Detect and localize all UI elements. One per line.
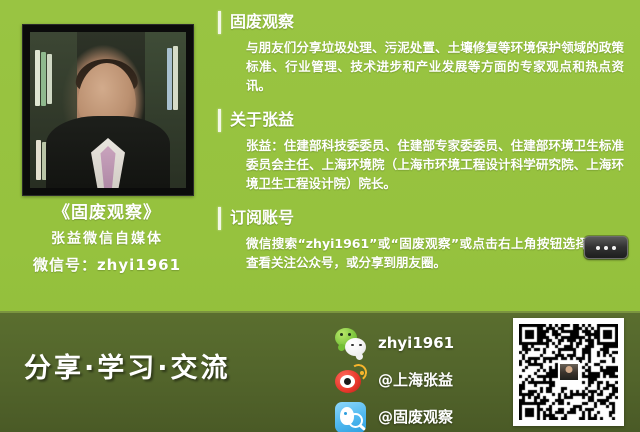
qq-icon <box>334 400 368 432</box>
vertical-bar-marker-icon <box>218 207 221 230</box>
section-title: 固废观察 <box>230 12 294 31</box>
book <box>47 54 52 104</box>
wechat-id-line: 微信号：zhyi1961 <box>0 252 214 278</box>
book <box>35 50 40 106</box>
section-header: 固废观察 <box>216 10 634 36</box>
social-label-weibo: @上海张益 <box>378 369 453 390</box>
wechat-qr-code[interactable] <box>513 318 624 426</box>
footer-slogan: 分享·学习·交流 <box>24 346 231 385</box>
section-title: 订阅账号 <box>230 208 294 227</box>
vertical-bar-marker-icon <box>218 11 221 34</box>
section-header: 订阅账号 <box>216 206 634 232</box>
account-subtitle: 张益微信自媒体 <box>0 226 214 252</box>
section-subscribe: 订阅账号 微信搜索“zhyi1961”或“固废观察”或点击右上角按钮选择查看关注… <box>216 206 634 272</box>
portrait-photo-frame <box>22 24 194 196</box>
social-row-qq[interactable]: @固废观察 <box>334 399 504 432</box>
social-row-weibo[interactable]: @上海张益 <box>334 362 504 397</box>
section-title: 关于张益 <box>230 110 294 129</box>
section-about-account: 固废观察 与朋友们分享垃圾处理、污泥处置、土壤修复等环境保护领域的政策标准、行业… <box>216 10 634 95</box>
more-options-button[interactable] <box>584 236 628 259</box>
section-about-zhangyi: 关于张益 张益：住建部科技委委员、住建部专家委委员、住建部环境卫生标准委员会主任… <box>216 108 634 193</box>
dot-icon <box>612 246 616 250</box>
promo-card: 《固废观察》 张益微信自媒体 微信号：zhyi1961 固废观察 与朋友们分享垃… <box>0 0 640 432</box>
qr-center-avatar <box>558 362 580 382</box>
social-label-wechat: zhyi1961 <box>378 334 454 352</box>
vertical-bar-marker-icon <box>218 109 221 132</box>
section-body: 与朋友们分享垃圾处理、污泥处置、土壤修复等环境保护领域的政策标准、行业管理、技术… <box>216 38 634 95</box>
account-title: 《固废观察》 <box>0 200 214 226</box>
book <box>167 48 172 110</box>
section-header: 关于张益 <box>216 108 634 134</box>
section-body: 微信搜索“zhyi1961”或“固废观察”或点击右上角按钮选择查看关注公众号，或… <box>216 234 634 272</box>
dot-icon <box>604 246 608 250</box>
section-body: 张益：住建部科技委委员、住建部专家委委员、住建部环境卫生标准委员会主任、上海环境… <box>216 136 634 193</box>
portrait-photo <box>30 32 186 188</box>
social-row-wechat[interactable]: zhyi1961 <box>334 325 504 360</box>
wechat-icon <box>334 326 368 360</box>
book <box>41 52 46 106</box>
weibo-icon <box>334 363 368 397</box>
info-column: 固废观察 与朋友们分享垃圾处理、污泥处置、土壤修复等环境保护领域的政策标准、行业… <box>216 10 634 285</box>
dot-icon <box>596 246 600 250</box>
profile-caption: 《固废观察》 张益微信自媒体 微信号：zhyi1961 <box>0 200 214 278</box>
book <box>173 46 178 110</box>
social-label-qq: @固废观察 <box>378 406 453 427</box>
book <box>36 140 41 180</box>
social-links: zhyi1961 @上海张益 @固废观察 <box>334 325 504 432</box>
profile-column: 《固废观察》 张益微信自媒体 微信号：zhyi1961 <box>0 0 214 313</box>
qr-matrix <box>519 324 618 420</box>
